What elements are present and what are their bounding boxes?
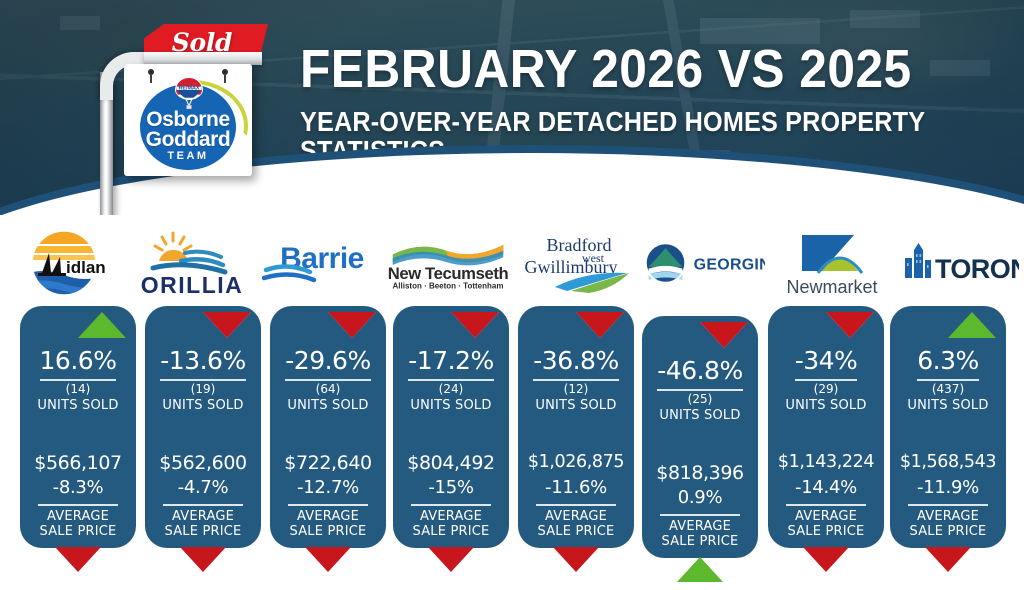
infographic-page: FEBRUARY 2026 VS 2025 YEAR-OVER-YEAR DET… — [0, 0, 1024, 590]
price-trend-down-icon — [553, 547, 599, 572]
units-percent: 6.3% — [890, 346, 1006, 375]
units-count: (25) — [642, 392, 758, 406]
brand-name-line2: Goddard — [124, 130, 252, 150]
units-count: (64) — [270, 382, 386, 396]
card-divider — [786, 504, 866, 506]
card-body: -46.8% (25) UNITS SOLD $818,396 0.9% AVE… — [642, 316, 758, 558]
average-price-label: AVERAGESALE PRICE — [393, 509, 509, 539]
price-percent: -15% — [393, 477, 509, 498]
card-body: 6.3% (437) UNITS SOLD $1,568,543 -11.9% … — [890, 306, 1006, 548]
brand-team-label: TEAM — [124, 151, 252, 161]
price-trend-down-icon — [803, 547, 849, 572]
price-percent: -8.3% — [20, 477, 136, 498]
units-percent: -17.2% — [393, 346, 509, 375]
card-divider — [411, 504, 491, 506]
toronto-logo-text: TORONTO — [935, 254, 1019, 284]
units-sold-label: UNITS SOLD — [145, 398, 261, 413]
card-divider — [163, 504, 243, 506]
average-price: $804,492 — [393, 452, 509, 474]
units-sold-label: UNITS SOLD — [642, 408, 758, 423]
card-newmarket[interactable]: -34% (29) UNITS SOLD $1,143,224 -14.4% A… — [768, 306, 884, 558]
card-divider — [660, 514, 740, 516]
midland-logo: idland — [3, 226, 125, 300]
units-count: (437) — [890, 382, 1006, 396]
price-trend-down-icon — [180, 547, 226, 572]
svg-text:RE/MAX: RE/MAX — [179, 85, 200, 91]
barrie-logo: Barrie — [259, 226, 381, 300]
remax-balloon-icon: RE/MAX — [172, 76, 206, 110]
card-divider — [536, 504, 616, 506]
new-tecumseth-sublabel: Alliston · Beeton · Tottenham — [393, 282, 504, 291]
sign-hook-right-icon — [222, 69, 228, 75]
average-price-label: AVERAGESALE PRICE — [270, 509, 386, 539]
logo-cell-bradford: Bradford west Gwillimbury — [512, 222, 640, 304]
logo-cell-toronto: TORONTO — [896, 222, 1024, 304]
brand-name-line1: Osborne — [124, 110, 252, 130]
units-percent: -29.6% — [270, 346, 386, 375]
municipality-logo-strip: idland ORILLIA — [0, 222, 1024, 304]
price-trend-down-icon — [55, 547, 101, 572]
card-divider — [38, 504, 118, 506]
average-price-label: AVERAGESALE PRICE — [890, 509, 1006, 539]
average-price: $818,396 — [642, 462, 758, 484]
units-count: (12) — [518, 382, 634, 396]
new-tecumseth-logo: New Tecumseth Alliston · Beeton · Totten… — [387, 226, 509, 300]
card-georgina[interactable]: -46.8% (25) UNITS SOLD $818,396 0.9% AVE… — [642, 316, 758, 568]
price-trend-up-icon — [677, 557, 723, 582]
midland-logo-text: idland — [66, 258, 106, 277]
toronto-logo: TORONTO — [899, 226, 1021, 300]
card-divider — [908, 504, 988, 506]
units-count: (19) — [145, 382, 261, 396]
average-price-label: AVERAGESALE PRICE — [20, 509, 136, 539]
orillia-logo: ORILLIA — [131, 226, 253, 300]
average-price-label: AVERAGESALE PRICE — [768, 509, 884, 539]
newmarket-logo-text: Newmarket — [786, 277, 877, 297]
price-percent: 0.9% — [642, 487, 758, 508]
average-price-label: AVERAGESALE PRICE — [642, 519, 758, 549]
units-percent: 16.6% — [20, 346, 136, 375]
units-sold-label: UNITS SOLD — [518, 398, 634, 413]
units-percent: -34% — [768, 346, 884, 375]
card-body: -36.8% (12) UNITS SOLD $1,026,875 -11.6%… — [518, 306, 634, 548]
average-price: $562,600 — [145, 452, 261, 474]
price-percent: -12.7% — [270, 477, 386, 498]
units-percent: -36.8% — [518, 346, 634, 375]
price-trend-down-icon — [305, 547, 351, 572]
logo-cell-georgina: GEORGINA — [640, 222, 768, 304]
units-sold-label: UNITS SOLD — [768, 398, 884, 413]
brand-name: Osborne Goddard TEAM — [124, 110, 252, 162]
price-trend-down-icon — [925, 547, 971, 572]
sold-sign-assembly: Sold RE/MAX — [96, 20, 286, 215]
average-price: $1,143,224 — [768, 452, 884, 472]
card-body: 16.6% (14) UNITS SOLD $566,107 -8.3% AVE… — [20, 306, 136, 548]
average-price-label: AVERAGESALE PRICE — [145, 509, 261, 539]
logo-cell-orillia: ORILLIA — [128, 222, 256, 304]
newmarket-logo: Newmarket — [771, 226, 893, 300]
price-percent: -4.7% — [145, 477, 261, 498]
units-count: (29) — [768, 382, 884, 396]
units-sold-label: UNITS SOLD — [270, 398, 386, 413]
units-sold-label: UNITS SOLD — [393, 398, 509, 413]
average-price-label: AVERAGESALE PRICE — [518, 509, 634, 539]
card-divider — [288, 504, 368, 506]
card-body: -34% (29) UNITS SOLD $1,143,224 -14.4% A… — [768, 306, 884, 548]
new-tecumseth-logo-text: New Tecumseth — [388, 264, 509, 283]
units-count: (24) — [393, 382, 509, 396]
card-midland[interactable]: 16.6% (14) UNITS SOLD $566,107 -8.3% AVE… — [20, 306, 136, 558]
card-body: -13.6% (19) UNITS SOLD $562,600 -4.7% AV… — [145, 306, 261, 548]
units-percent: -13.6% — [145, 346, 261, 375]
average-price: $722,640 — [270, 452, 386, 474]
bradford-west-gwillimbury-logo: Bradford west Gwillimbury — [515, 226, 637, 300]
card-barrie[interactable]: -29.6% (64) UNITS SOLD $722,640 -12.7% A… — [270, 306, 386, 558]
logo-cell-midland: idland — [0, 222, 128, 304]
card-bradford-west-gwillimbury[interactable]: -36.8% (12) UNITS SOLD $1,026,875 -11.6%… — [518, 306, 634, 558]
sign-hook-left-icon — [148, 69, 154, 75]
orillia-logo-text: ORILLIA — [141, 272, 244, 298]
price-percent: -14.4% — [768, 477, 884, 498]
logo-cell-new-tecumseth: New Tecumseth Alliston · Beeton · Totten… — [384, 222, 512, 304]
brand-sign-board: RE/MAX Osborne Goddard TEAM — [124, 64, 252, 176]
georgina-logo: GEORGINA — [643, 226, 765, 300]
price-trend-down-icon — [428, 547, 474, 572]
card-orillia[interactable]: -13.6% (19) UNITS SOLD $562,600 -4.7% AV… — [145, 306, 261, 558]
card-new-tecumseth[interactable]: -17.2% (24) UNITS SOLD $804,492 -15% AVE… — [393, 306, 509, 558]
card-body: -29.6% (64) UNITS SOLD $722,640 -12.7% A… — [270, 306, 386, 548]
logo-cell-barrie: Barrie — [256, 222, 384, 304]
georgina-logo-text: GEORGINA — [694, 257, 765, 274]
logo-cell-newmarket: Newmarket — [768, 222, 896, 304]
page-title: FEBRUARY 2026 VS 2025 — [300, 42, 944, 97]
units-sold-label: UNITS SOLD — [890, 398, 1006, 413]
average-price: $1,568,543 — [890, 452, 1006, 472]
units-count: (14) — [20, 382, 136, 396]
units-percent: -46.8% — [642, 356, 758, 385]
statistics-cards: 16.6% (14) UNITS SOLD $566,107 -8.3% AVE… — [0, 306, 1024, 590]
units-sold-label: UNITS SOLD — [20, 398, 136, 413]
average-price: $1,026,875 — [518, 452, 634, 472]
card-toronto[interactable]: 6.3% (437) UNITS SOLD $1,568,543 -11.9% … — [890, 306, 1006, 558]
price-percent: -11.6% — [518, 477, 634, 498]
card-body: -17.2% (24) UNITS SOLD $804,492 -15% AVE… — [393, 306, 509, 548]
barrie-logo-text: Barrie — [280, 242, 364, 275]
price-percent: -11.9% — [890, 477, 1006, 498]
average-price: $566,107 — [20, 452, 136, 474]
header-banner: FEBRUARY 2026 VS 2025 YEAR-OVER-YEAR DET… — [0, 0, 1024, 215]
